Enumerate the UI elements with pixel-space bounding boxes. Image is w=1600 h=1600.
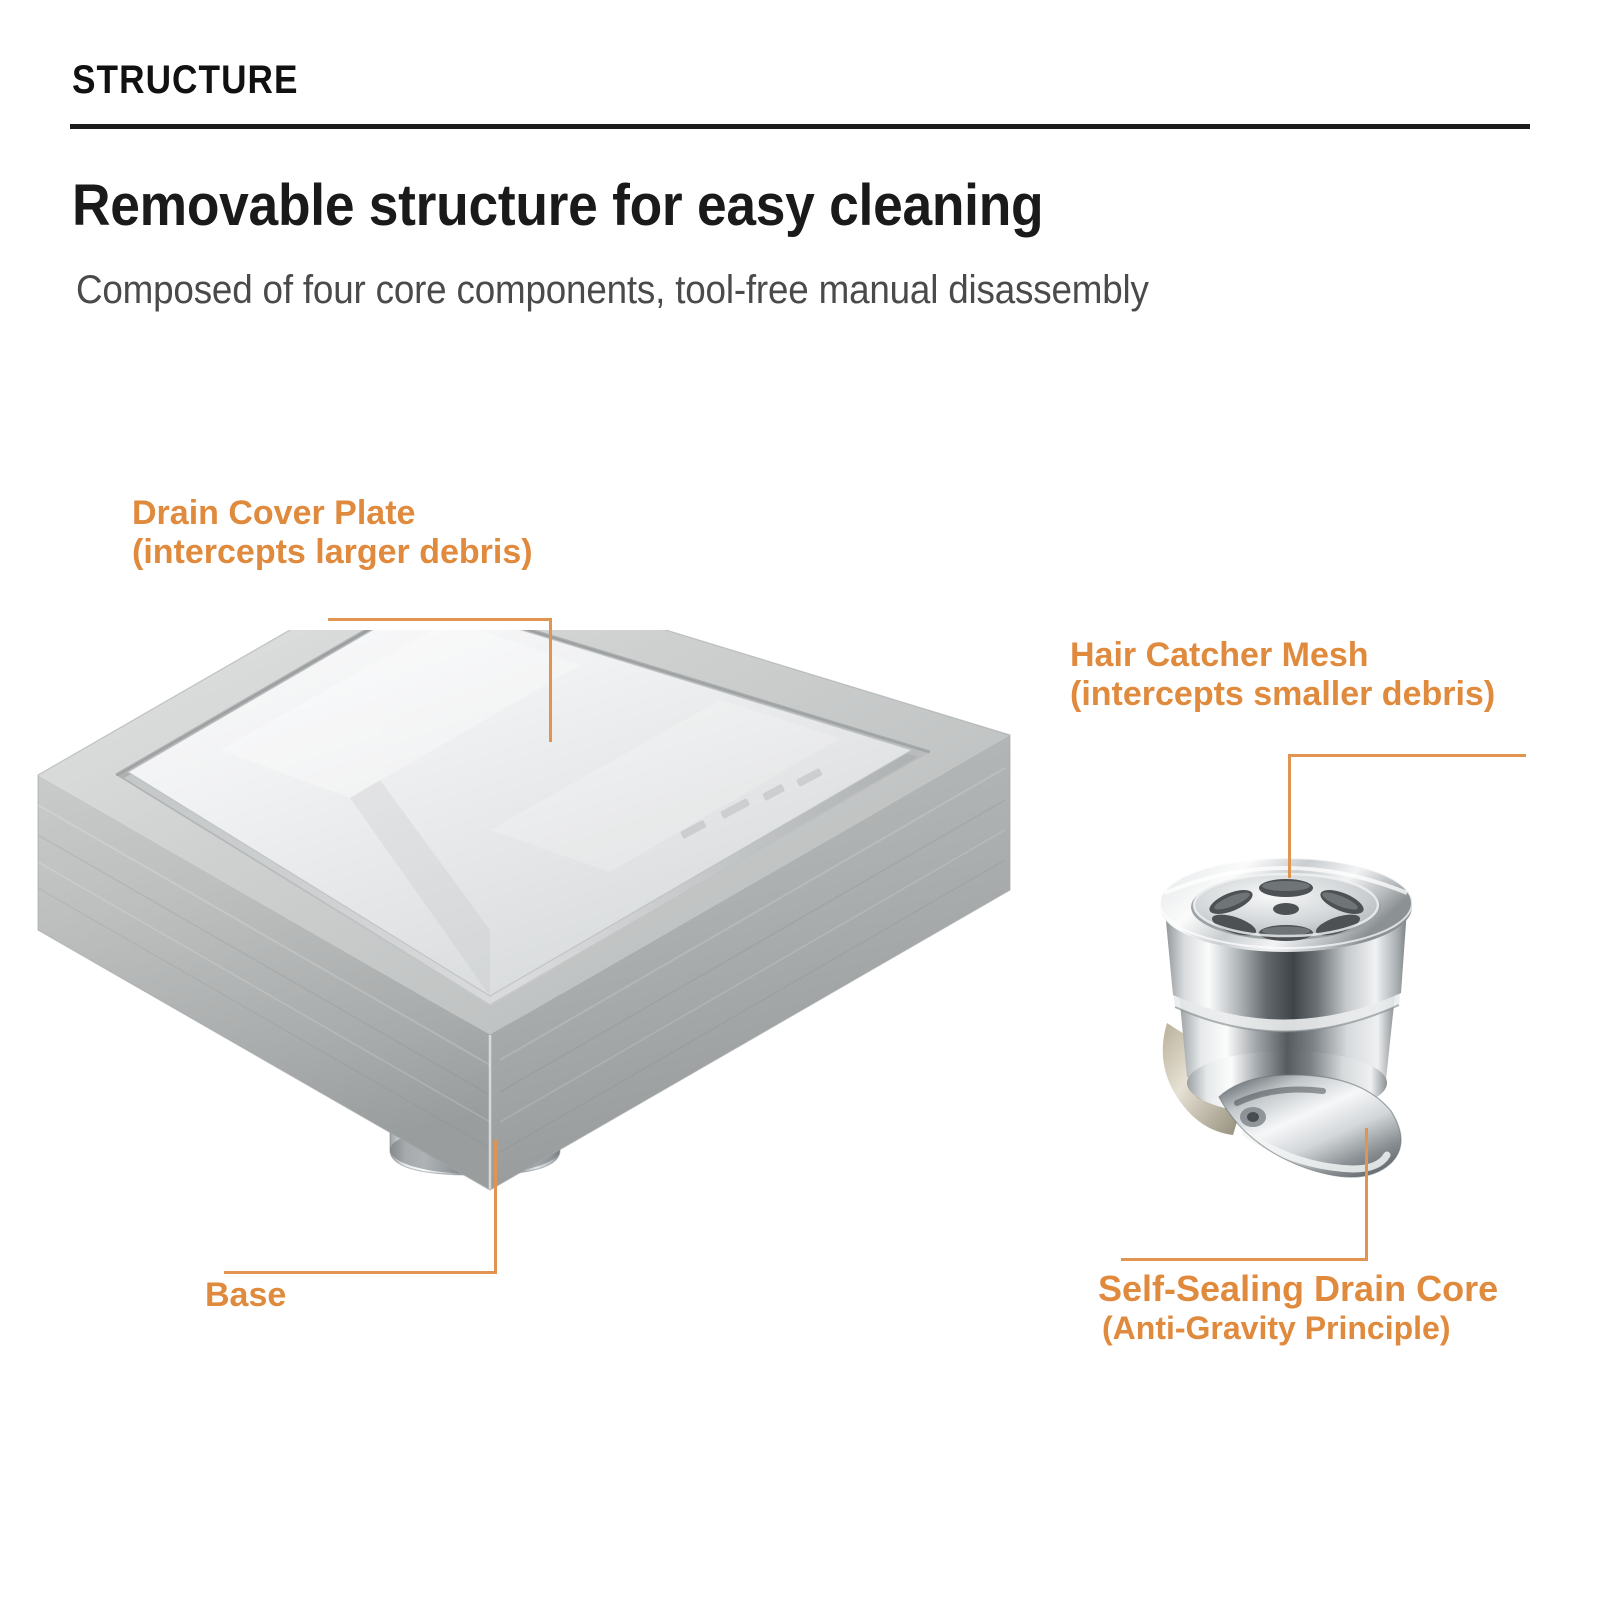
callout-self-sealing-drain-core: Self-Sealing Drain Core (Anti-Gravity Pr… bbox=[1098, 1268, 1498, 1347]
infographic-page: STRUCTURE Removable structure for easy c… bbox=[0, 0, 1600, 1600]
drain-body-svg bbox=[20, 630, 1030, 1210]
leader-line-hair-catcher-horizontal bbox=[1288, 754, 1526, 757]
leader-line-drain-core-horizontal bbox=[1121, 1258, 1368, 1261]
callout-drain-cover-plate-subtitle: (intercepts larger debris) bbox=[132, 533, 533, 572]
page-title: Removable structure for easy cleaning bbox=[72, 172, 1043, 239]
callout-self-sealing-drain-core-subtitle: (Anti-Gravity Principle) bbox=[1098, 1310, 1498, 1347]
page-subtitle: Composed of four core components, tool-f… bbox=[76, 268, 1149, 313]
callout-hair-catcher-mesh: Hair Catcher Mesh (intercepts smaller de… bbox=[1070, 636, 1495, 715]
drain-body-figure bbox=[20, 630, 1030, 1210]
leader-line-base-vertical bbox=[494, 1140, 497, 1274]
leader-line-drain-cover-vertical bbox=[549, 618, 552, 742]
drain-core-figure bbox=[1095, 845, 1505, 1235]
callout-drain-cover-plate: Drain Cover Plate (intercepts larger deb… bbox=[132, 494, 533, 573]
hair-catcher-mesh bbox=[1160, 858, 1412, 952]
callout-self-sealing-drain-core-title: Self-Sealing Drain Core bbox=[1098, 1268, 1498, 1310]
leader-line-drain-cover-horizontal bbox=[328, 618, 552, 621]
leader-line-drain-core-vertical bbox=[1365, 1128, 1368, 1261]
drain-core-svg bbox=[1095, 845, 1505, 1235]
leader-line-hair-catcher-vertical bbox=[1288, 754, 1291, 878]
callout-drain-cover-plate-title: Drain Cover Plate bbox=[132, 494, 533, 533]
header-divider-rule bbox=[70, 124, 1530, 129]
callout-base: Base bbox=[205, 1276, 286, 1315]
section-eyebrow: STRUCTURE bbox=[72, 58, 299, 103]
callout-hair-catcher-mesh-title: Hair Catcher Mesh bbox=[1070, 636, 1495, 675]
callout-base-title: Base bbox=[205, 1276, 286, 1315]
callout-hair-catcher-mesh-subtitle: (intercepts smaller debris) bbox=[1070, 675, 1495, 714]
leader-line-base-horizontal bbox=[224, 1271, 497, 1274]
